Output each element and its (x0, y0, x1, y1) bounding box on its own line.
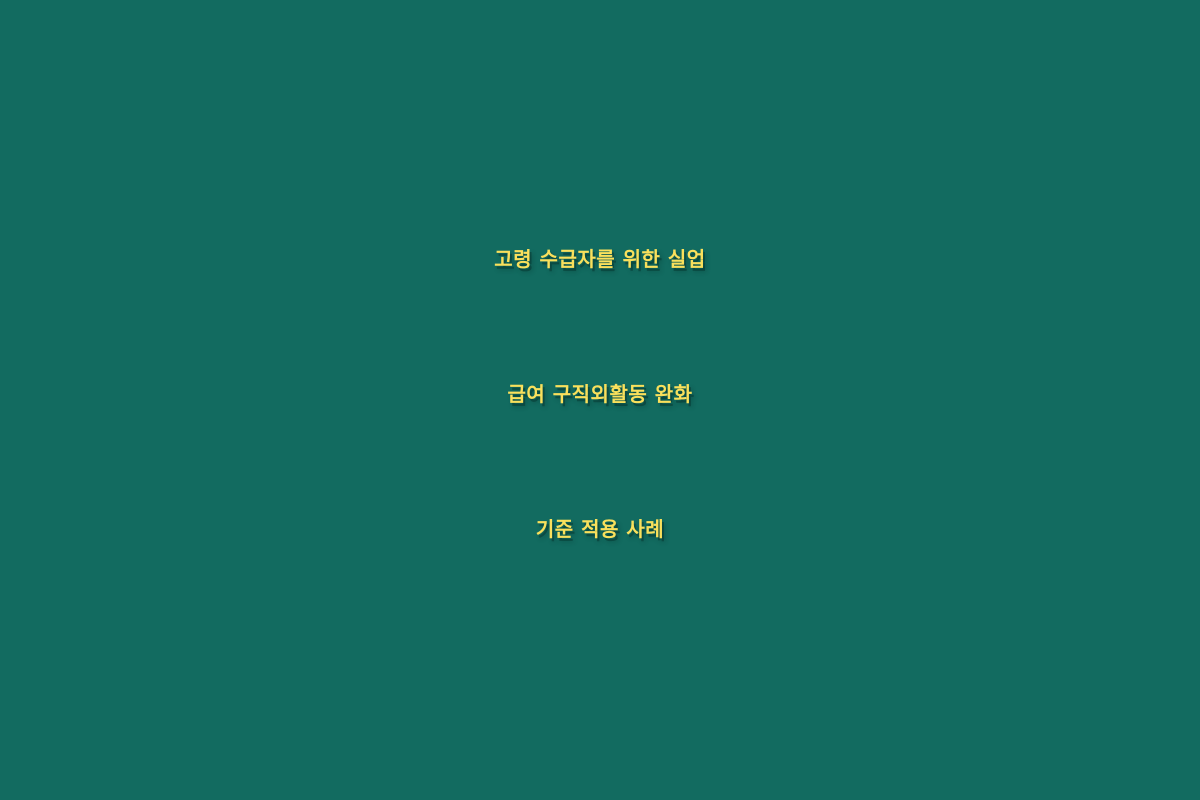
headline-line-1: 고령 수급자를 위한 실업 (0, 192, 1200, 327)
banner-canvas: 고령 수급자를 위한 실업 급여 구직외활동 완화 기준 적용 사례 (0, 0, 1200, 800)
headline-block: 고령 수급자를 위한 실업 급여 구직외활동 완화 기준 적용 사례 (0, 192, 1200, 597)
headline-line-3: 기준 적용 사례 (0, 462, 1200, 597)
headline-line-2: 급여 구직외활동 완화 (0, 327, 1200, 462)
